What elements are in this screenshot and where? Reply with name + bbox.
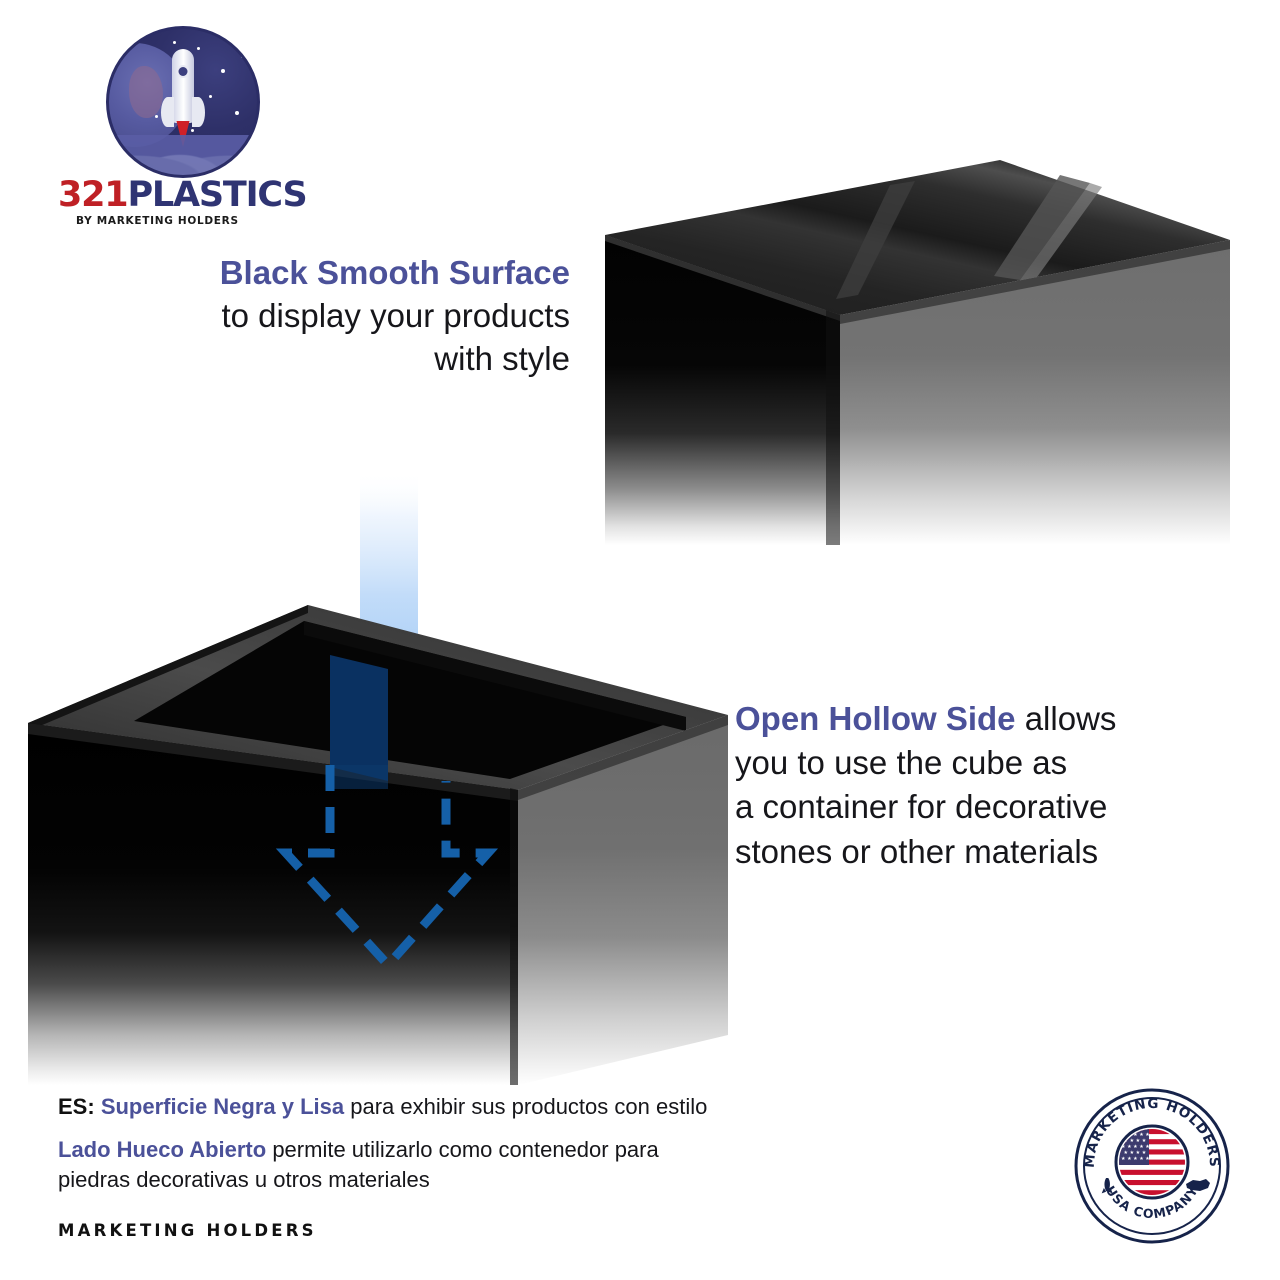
- feature-right-line2: you to use the cube as: [735, 741, 1205, 785]
- spanish-line3: piedras decorativas u otros materiales: [58, 1167, 430, 1192]
- rocket-icon: [168, 49, 198, 145]
- clouds-decoration: [109, 135, 257, 178]
- footer-brand-text: MARKETING HOLDERS: [58, 1221, 317, 1240]
- spanish-line-2: Lado Hueco Abierto permite utilizarlo co…: [58, 1135, 898, 1194]
- closed-top-cube-illustration: [590, 145, 1240, 545]
- spanish-translation-block: ES: Superficie Negra y Lisa para exhibir…: [58, 1092, 898, 1194]
- spanish-tag: ES:: [58, 1094, 95, 1119]
- svg-text:★ ★ ★ ★ ★: ★ ★ ★ ★ ★: [1121, 1156, 1150, 1162]
- logo-tagline: BY MARKETING HOLDERS: [58, 215, 308, 227]
- feature-black-smooth-surface: Black Smooth Surface to display your pro…: [120, 252, 570, 381]
- usa-company-seal: ★ ★ ★ ★ ★ ★ ★ ★ ★ ★ ★ ★ ★ ★ ★ ★ ★ ★ ★ ★ …: [1072, 1086, 1232, 1246]
- logo-word: PLASTICS: [127, 175, 306, 215]
- logo-wordmark: 321PLASTICS BY MARKETING HOLDERS: [58, 178, 308, 227]
- spanish-line2-accent: Lado Hueco Abierto: [58, 1137, 266, 1162]
- feature-right-line3: a container for decorative: [735, 785, 1205, 829]
- usa-flag-circle-icon: ★ ★ ★ ★ ★ ★ ★ ★ ★ ★ ★ ★ ★ ★ ★ ★ ★ ★ ★ ★ …: [1119, 1129, 1185, 1195]
- feature-right-line4: stones or other materials: [735, 830, 1205, 874]
- feature-top-line3: with style: [120, 338, 570, 381]
- feature-open-hollow-side: Open Hollow Side allows you to use the c…: [735, 697, 1205, 874]
- feature-right-line1: Open Hollow Side allows: [735, 697, 1205, 741]
- feature-right-heading: Open Hollow Side: [735, 700, 1016, 737]
- brand-logo: 321PLASTICS BY MARKETING HOLDERS: [58, 26, 308, 221]
- feature-right-heading-suffix: allows: [1016, 700, 1117, 737]
- logo-number: 321: [58, 175, 127, 215]
- open-hollow-cube-illustration: [18, 605, 738, 1085]
- feature-top-heading: Black Smooth Surface: [120, 252, 570, 295]
- spanish-line1-accent: Superficie Negra y Lisa: [101, 1094, 344, 1119]
- spanish-line-1: ES: Superficie Negra y Lisa para exhibir…: [58, 1092, 898, 1121]
- infographic-canvas: 321PLASTICS BY MARKETING HOLDERS: [0, 0, 1280, 1280]
- feature-top-line2: to display your products: [120, 295, 570, 338]
- spanish-line1-rest: para exhibir sus productos con estilo: [344, 1094, 707, 1119]
- spanish-line2-rest: permite utilizarlo como contenedor para: [266, 1137, 659, 1162]
- rocket-planet-badge-icon: [106, 26, 260, 178]
